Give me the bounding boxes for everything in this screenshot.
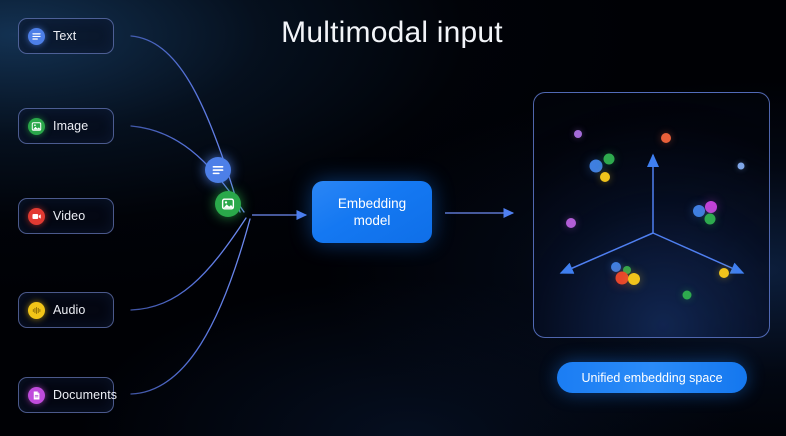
embedding-model-box[interactable]: Embedding model [312, 181, 432, 243]
embedding-point [574, 130, 582, 138]
modality-pill-image[interactable]: Image [18, 108, 114, 144]
modality-label: Image [53, 119, 88, 133]
text-lines-icon [28, 28, 45, 45]
modality-label: Video [53, 209, 85, 223]
embedding-point [693, 205, 705, 217]
embedding-point [628, 273, 640, 285]
flow-text-lines-icon [205, 157, 231, 183]
embedding-space-panel [533, 92, 770, 338]
embedding-point [590, 160, 603, 173]
embedding-point [661, 133, 671, 143]
modality-pill-documents[interactable]: Documents [18, 377, 114, 413]
flow-image-icon [215, 191, 241, 217]
badge-label: Unified embedding space [581, 371, 722, 385]
embedding-axes [534, 93, 770, 338]
modality-label: Text [53, 29, 76, 43]
embedding-point [566, 218, 576, 228]
document-icon [28, 387, 45, 404]
embedding-point [600, 172, 610, 182]
unified-embedding-space-badge[interactable]: Unified embedding space [557, 362, 747, 393]
modality-pill-text[interactable]: Text [18, 18, 114, 54]
modality-pill-video[interactable]: Video [18, 198, 114, 234]
multimodal-diagram: Multimodal input Text Image [0, 0, 786, 436]
embedding-point [683, 291, 692, 300]
modality-label: Documents [53, 388, 117, 402]
audio-wave-icon [28, 302, 45, 319]
embedding-point [738, 163, 745, 170]
embedding-point [616, 272, 629, 285]
video-camera-icon [28, 208, 45, 225]
embedding-point [611, 262, 621, 272]
embedding-point [604, 154, 615, 165]
modality-pill-audio[interactable]: Audio [18, 292, 114, 328]
embedding-point [705, 214, 716, 225]
image-icon [28, 118, 45, 135]
modality-label: Audio [53, 303, 85, 317]
embedding-model-line1: Embedding [338, 195, 406, 212]
page-title: Multimodal input [0, 16, 785, 50]
embedding-model-line2: model [338, 212, 406, 229]
embedding-point [719, 268, 729, 278]
embedding-point [705, 201, 717, 213]
